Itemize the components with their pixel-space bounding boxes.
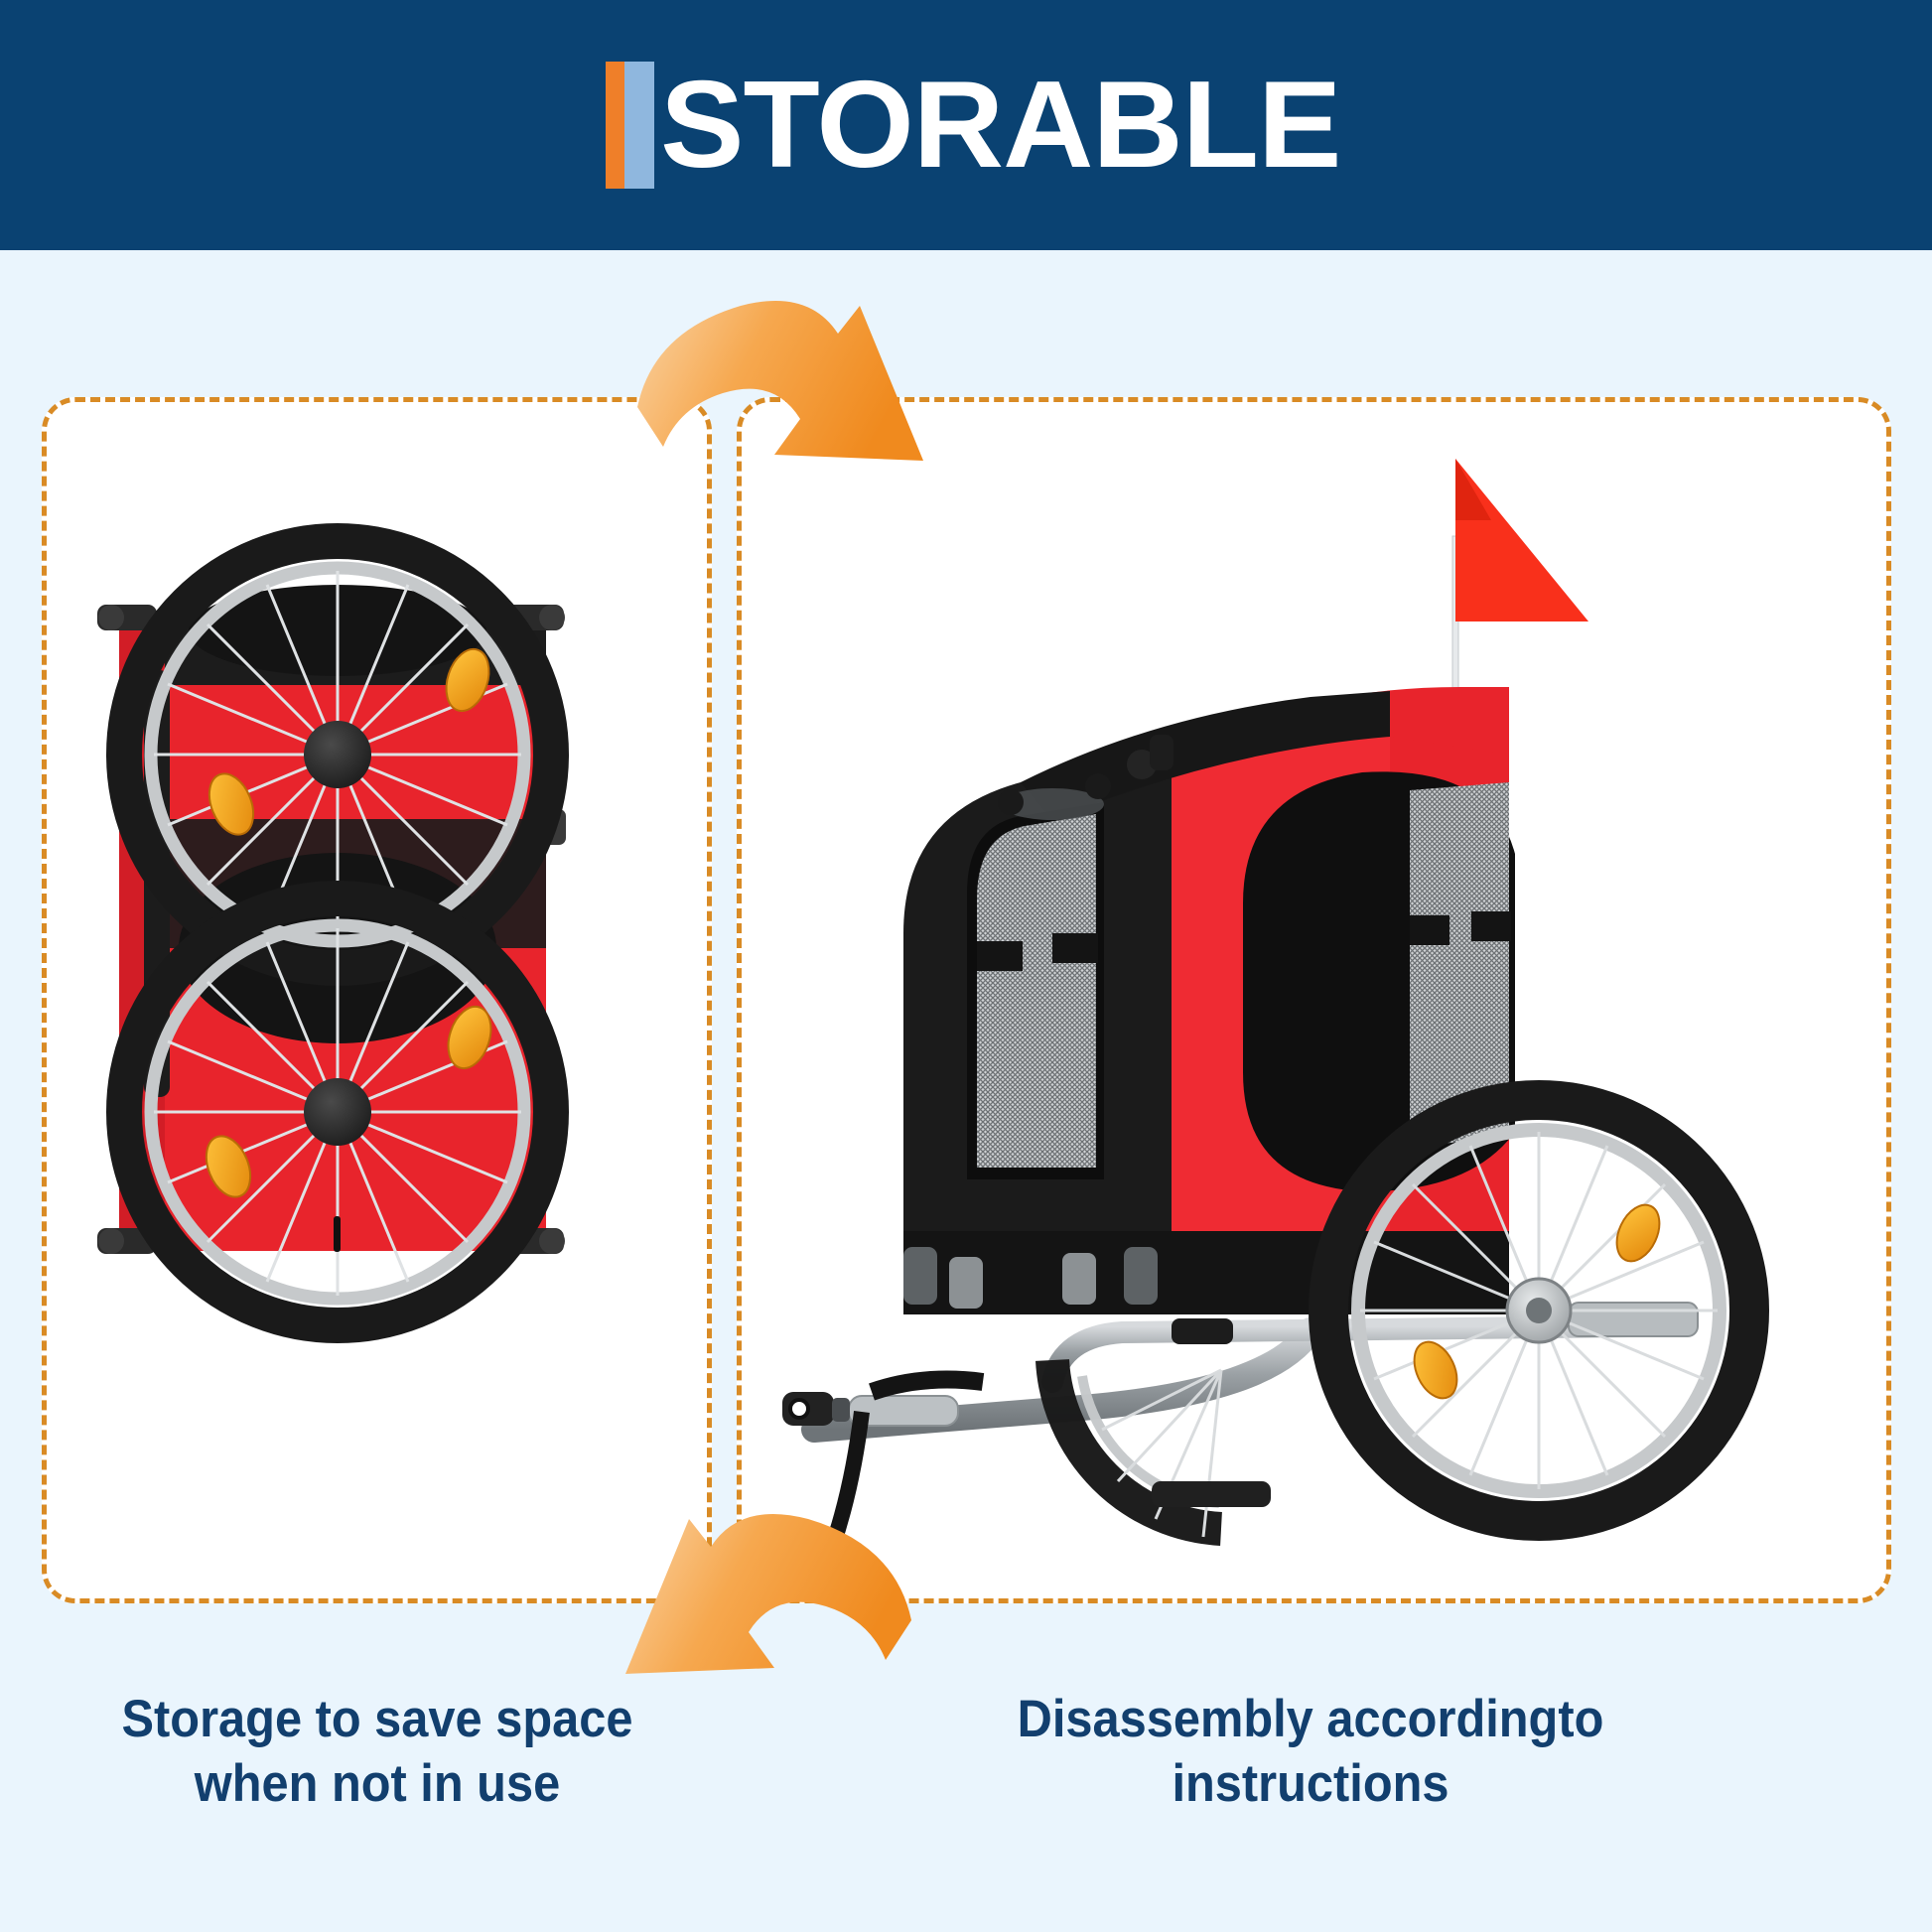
header-banner: STORABLE	[0, 0, 1932, 250]
rear-wheel	[1328, 1100, 1749, 1521]
trailer-cabin	[903, 687, 1515, 1314]
assembled-trailer-image	[755, 437, 1876, 1549]
rear-mesh-window	[967, 802, 1104, 1179]
caption-right-line2: instructions	[908, 1752, 1713, 1817]
cabin-bottom-trim	[903, 1231, 1509, 1314]
caption-left-line2: when not in use	[58, 1752, 697, 1817]
hitch-coupler	[782, 1392, 850, 1426]
caption-right-line1: Disassembly accordingto	[908, 1688, 1713, 1752]
caption-right: Disassembly accordingto instructions	[908, 1688, 1713, 1816]
caption-left: Storage to save space when not in use	[58, 1688, 697, 1816]
accent-bar-lightblue	[624, 62, 654, 189]
page-title: STORABLE	[654, 62, 1340, 189]
folded-wheel-lower	[124, 898, 551, 1325]
accent-bar-orange	[606, 62, 624, 189]
title-group: STORABLE	[606, 62, 1327, 189]
folded-trailer-image	[89, 521, 655, 1514]
caption-left-line1: Storage to save space	[58, 1688, 697, 1752]
